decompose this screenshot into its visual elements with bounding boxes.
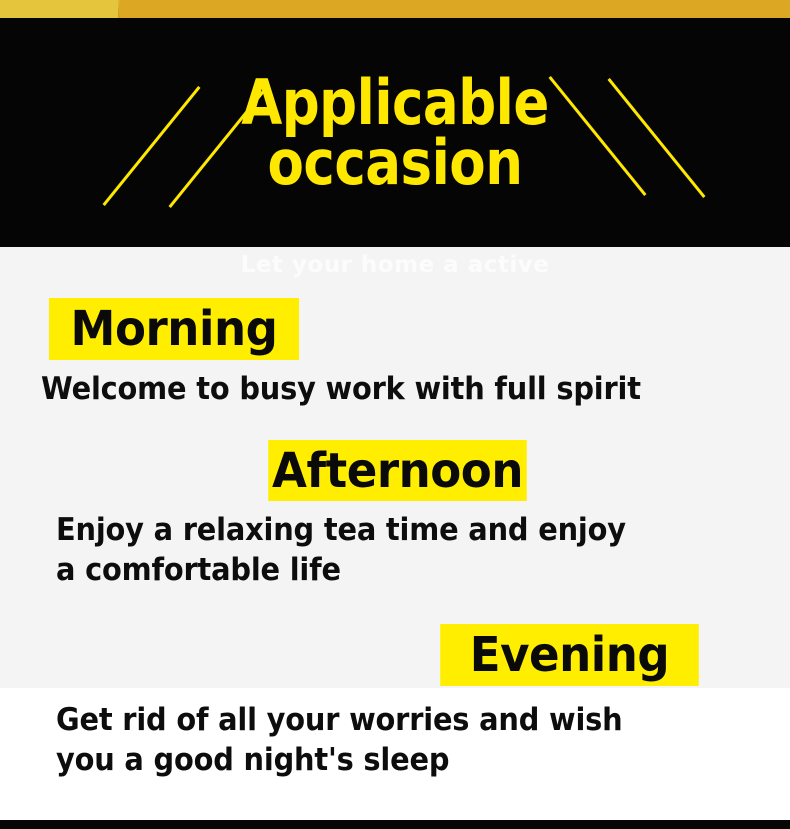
section-label-evening: Evening <box>440 624 699 686</box>
section-label-afternoon: Afternoon <box>268 440 527 501</box>
section-body-evening: Get rid of all your worries and wish you… <box>56 701 726 781</box>
hero-banner: Applicable occasion <box>0 18 790 247</box>
ghost-subtitle: Let your home a active <box>0 252 790 278</box>
top-bar-left-segment <box>0 0 118 18</box>
page-title-line-1: Applicable <box>241 73 549 133</box>
page-title-line-2: occasion <box>267 133 522 193</box>
bottom-black-strip <box>0 820 790 829</box>
section-label-morning: Morning <box>49 298 299 360</box>
top-bar-right-segment <box>118 0 790 18</box>
top-gold-bar <box>0 0 790 18</box>
page-title: Applicable occasion <box>20 18 771 247</box>
applicable-occasion-page: Applicable occasion Let your home a acti… <box>0 0 790 829</box>
section-body-morning: Welcome to busy work with full spirit <box>41 370 711 410</box>
section-body-afternoon: Enjoy a relaxing tea time and enjoy a co… <box>56 511 726 591</box>
